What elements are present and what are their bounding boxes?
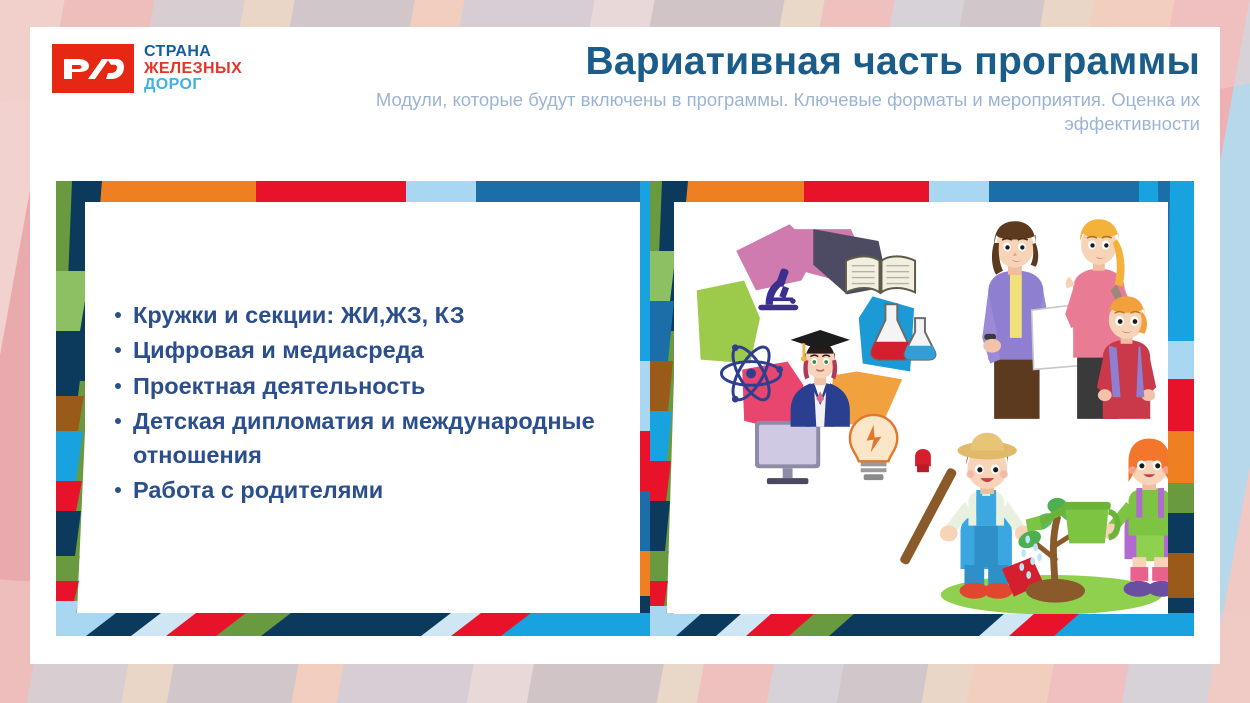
bullet-panel-inner: Кружки и секции: ЖИ,ЖЗ, КЗ Цифровая и ме…: [85, 202, 640, 611]
bullet-dot-icon: [115, 347, 121, 353]
list-item: Кружки и секции: ЖИ,ЖЗ, КЗ: [115, 298, 624, 332]
open-book-icon: [846, 256, 915, 292]
rzd-logo-wordmark: СТРАНА ЖЕЛЕЗНЫХ ДОРОГ: [144, 44, 242, 94]
page-title: Вариативная часть программы: [370, 41, 1200, 84]
logo-line-3: ДОРОГ: [144, 77, 242, 94]
bullet-text: Детская дипломатия и международные отнош…: [133, 404, 624, 473]
content-sheet: СТРАНА ЖЕЛЕЗНЫХ ДОРОГ Вариативная часть …: [30, 27, 1220, 664]
teacher-parent-child-group: [982, 219, 1156, 419]
list-item: Цифровая и медиасреда: [115, 333, 624, 367]
page-subtitle: Модули, которые будут включены в програм…: [370, 88, 1200, 137]
title-block: Вариативная часть программы Модули, кото…: [370, 41, 1200, 137]
girl-gardener-figure: [1019, 439, 1168, 597]
rzd-logo-mark-icon: [52, 44, 134, 93]
bullet-dot-icon: [115, 312, 121, 318]
boy-gardener-figure: [899, 433, 1044, 599]
computer-monitor-icon: [755, 421, 820, 484]
bullet-text: Кружки и секции: ЖИ,ЖЗ, КЗ: [133, 298, 624, 332]
rzd-logo: СТРАНА ЖЕЛЕЗНЫХ ДОРОГ: [52, 44, 242, 94]
logo-line-1: СТРАНА: [144, 44, 242, 61]
logo-line-2: ЖЕЛЕЗНЫХ: [144, 61, 242, 78]
children-planting-tree: [899, 433, 1168, 614]
bullet-text: Работа с родителями: [133, 473, 624, 507]
bullet-dot-icon: [115, 418, 121, 424]
list-item: Детская дипломатия и международные отнош…: [115, 404, 624, 473]
list-item: Работа с родителями: [115, 473, 624, 507]
list-item: Проектная деятельность: [115, 369, 624, 403]
illustration-panel-inner: [674, 202, 1168, 614]
slide-header: СТРАНА ЖЕЛЕЗНЫХ ДОРОГ Вариативная часть …: [30, 27, 1220, 167]
illustration-panel: [650, 181, 1194, 636]
bullet-dot-icon: [115, 383, 121, 389]
illustration-group: [674, 202, 1168, 614]
lightbulb-icon: [850, 415, 897, 480]
bullet-text: Цифровая и медиасреда: [133, 333, 624, 367]
education-cycle-diagram: [697, 202, 936, 484]
bullet-dot-icon: [115, 487, 121, 493]
slide-root: СТРАНА ЖЕЛЕЗНЫХ ДОРОГ Вариативная часть …: [0, 0, 1250, 703]
bullet-list: Кружки и секции: ЖИ,ЖЗ, КЗ Цифровая и ме…: [115, 298, 624, 509]
bullet-panel: Кружки и секции: ЖИ,ЖЗ, КЗ Цифровая и ме…: [56, 181, 652, 636]
bullet-text: Проектная деятельность: [133, 369, 624, 403]
